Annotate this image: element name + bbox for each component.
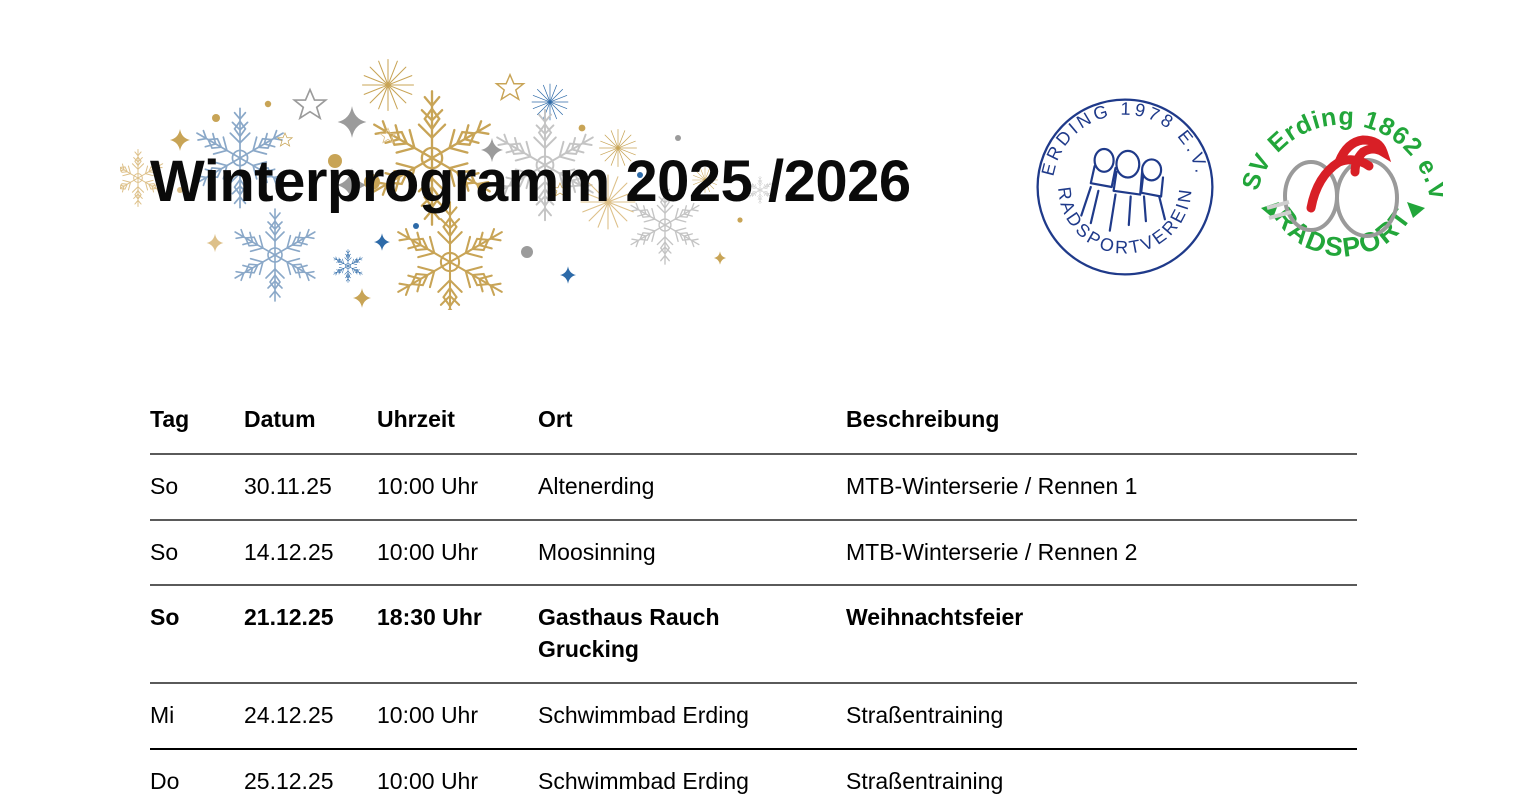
tsv-erding-logo: TSV Erding 1862 e.V. RADSPORT	[1243, 90, 1443, 285]
rsv-erding-logo: ERDING 1978 E.V. RADSPORTVEREIN	[1030, 92, 1220, 282]
table-row-highlighted: So 21.12.25 18:30 Uhr Gasthaus Rauch Gru…	[150, 585, 1357, 682]
column-header-ort: Ort	[538, 398, 846, 454]
cell-beschreibung: Weihnachtsfeier	[846, 585, 1357, 682]
page-title: Winterprogramm 2025 /2026	[150, 148, 911, 215]
winter-program-table: Tag Datum Uhrzeit Ort Beschreibung So 30…	[150, 398, 1357, 795]
cell-tag: Do	[150, 749, 244, 795]
cell-ort-line1: Schwimmbad Erding	[538, 768, 749, 794]
table-row: Mi 24.12.25 10:00 Uhr Schwimmbad Erding …	[150, 683, 1357, 749]
cell-tag: So	[150, 520, 244, 586]
rsv-top-arc-text: ERDING 1978 E.V.	[1038, 99, 1213, 178]
cell-ort: Gasthaus Rauch Grucking	[538, 585, 846, 682]
cell-datum: 30.11.25	[244, 454, 377, 520]
column-header-tag: Tag	[150, 398, 244, 454]
cell-ort-line2: Grucking	[538, 634, 846, 666]
cell-ort: Altenerding	[538, 454, 846, 520]
column-header-beschreibung: Beschreibung	[846, 398, 1357, 454]
cell-beschreibung: Straßentraining	[846, 683, 1357, 749]
table-row: So 14.12.25 10:00 Uhr Moosinning MTB-Win…	[150, 520, 1357, 586]
cell-beschreibung: MTB-Winterserie / Rennen 2	[846, 520, 1357, 586]
cell-ort: Moosinning	[538, 520, 846, 586]
cell-ort: Schwimmbad Erding	[538, 683, 846, 749]
svg-text:RADSPORTVEREIN: RADSPORTVEREIN	[1054, 186, 1196, 258]
svg-text:ERDING 1978 E.V.: ERDING 1978 E.V.	[1038, 99, 1213, 178]
cell-tag: So	[150, 454, 244, 520]
table-row: Do 25.12.25 10:00 Uhr Schwimmbad Erding …	[150, 749, 1357, 795]
cell-uhrzeit: 10:00 Uhr	[377, 749, 538, 795]
table-header-row: Tag Datum Uhrzeit Ort Beschreibung	[150, 398, 1357, 454]
cell-ort-line1: Schwimmbad Erding	[538, 702, 749, 728]
cell-datum: 24.12.25	[244, 683, 377, 749]
page-header: Winterprogramm 2025 /2026 ERDING 1978 E.…	[0, 0, 1530, 330]
cell-beschreibung: Straßentraining	[846, 749, 1357, 795]
cell-tag: So	[150, 585, 244, 682]
cell-datum: 25.12.25	[244, 749, 377, 795]
column-header-uhrzeit: Uhrzeit	[377, 398, 538, 454]
cell-tag: Mi	[150, 683, 244, 749]
cell-uhrzeit: 18:30 Uhr	[377, 585, 538, 682]
column-header-datum: Datum	[244, 398, 377, 454]
cell-datum: 21.12.25	[244, 585, 377, 682]
rsv-bottom-arc-text: RADSPORTVEREIN	[1054, 186, 1196, 258]
cell-ort-line1: Altenerding	[538, 473, 654, 499]
cell-uhrzeit: 10:00 Uhr	[377, 454, 538, 520]
cell-uhrzeit: 10:00 Uhr	[377, 520, 538, 586]
cell-ort: Schwimmbad Erding	[538, 749, 846, 795]
table-row: So 30.11.25 10:00 Uhr Altenerding MTB-Wi…	[150, 454, 1357, 520]
cell-uhrzeit: 10:00 Uhr	[377, 683, 538, 749]
cell-ort-line1: Moosinning	[538, 539, 656, 565]
cell-beschreibung: MTB-Winterserie / Rennen 1	[846, 454, 1357, 520]
cell-datum: 14.12.25	[244, 520, 377, 586]
cell-ort-line1: Gasthaus Rauch	[538, 604, 720, 630]
